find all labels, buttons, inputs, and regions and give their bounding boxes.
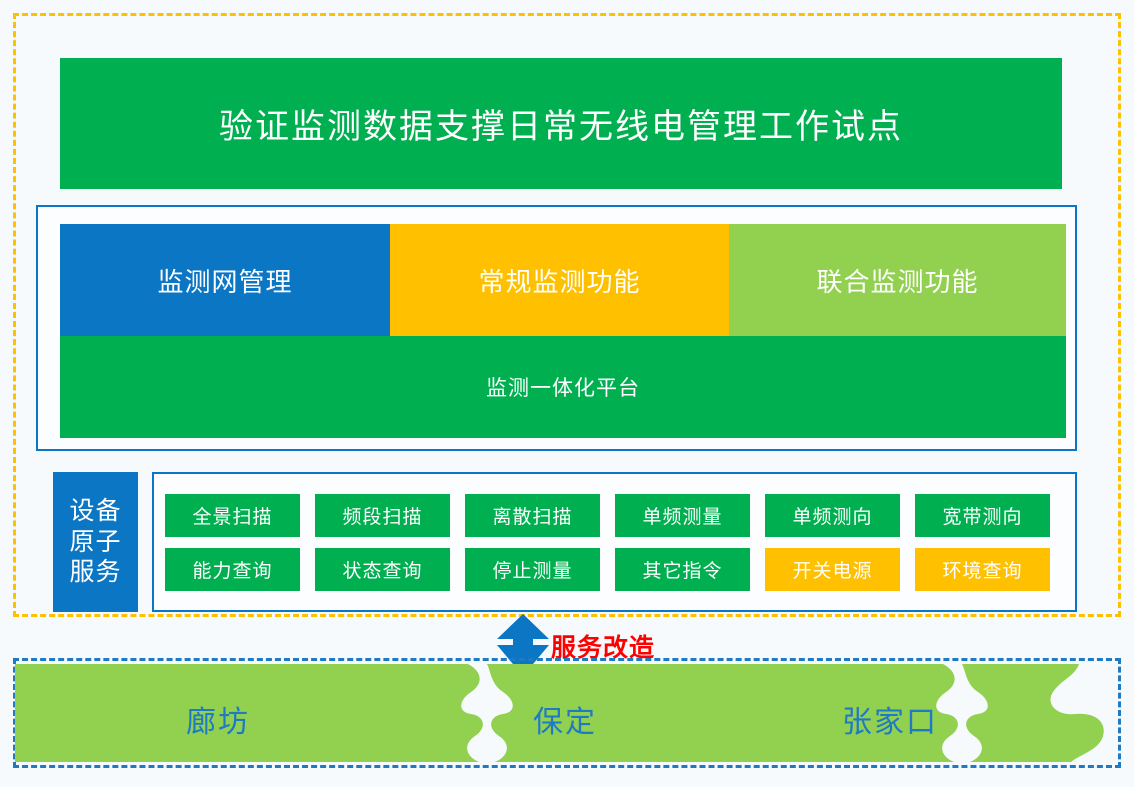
- function-cell-label: 联合监测功能: [816, 262, 978, 299]
- function-cell-joint-monitoring[interactable]: 联合监测功能: [729, 224, 1066, 336]
- service-button-label: 频段扫描: [342, 502, 422, 529]
- service-button-label: 状态查询: [342, 556, 422, 583]
- region-label-baoding[interactable]: 保定: [533, 697, 597, 741]
- service-button-label: 环境查询: [942, 556, 1022, 583]
- service-button-panorama-scan[interactable]: 全景扫描: [165, 494, 300, 537]
- region-label-zhangjiakou[interactable]: 张家口: [842, 697, 938, 741]
- atomic-service-row: 全景扫描 频段扫描 离散扫描 单频测量 单频测向 宽带测向: [165, 494, 1065, 537]
- service-button-discrete-scan[interactable]: 离散扫描: [465, 494, 600, 537]
- service-button-single-frequency-df[interactable]: 单频测向: [765, 494, 900, 537]
- service-button-label: 单频测向: [792, 502, 872, 529]
- service-button-label: 能力查询: [192, 556, 272, 583]
- integrated-platform-bar[interactable]: 监测一体化平台: [60, 336, 1066, 438]
- integrated-platform-label: 监测一体化平台: [486, 372, 640, 402]
- atomic-service-label-line-2: 原子: [69, 527, 121, 558]
- page-title: 验证监测数据支撑日常无线电管理工作试点: [219, 99, 903, 148]
- service-button-stop-measure[interactable]: 停止测量: [465, 548, 600, 591]
- diagram-canvas: 验证监测数据支撑日常无线电管理工作试点 监测网管理 常规监测功能 联合监测功能 …: [0, 0, 1134, 787]
- atomic-service-row: 能力查询 状态查询 停止测量 其它指令 开关电源 环境查询: [165, 548, 1065, 591]
- service-button-label: 开关电源: [792, 556, 872, 583]
- service-button-wideband-df[interactable]: 宽带测向: [915, 494, 1050, 537]
- atomic-service-panel: 全景扫描 频段扫描 离散扫描 单频测量 单频测向 宽带测向 能力查询 状态查询 …: [152, 472, 1077, 612]
- service-button-label: 其它指令: [642, 556, 722, 583]
- service-button-power-switch[interactable]: 开关电源: [765, 548, 900, 591]
- service-button-label: 离散扫描: [492, 502, 572, 529]
- function-row: 监测网管理 常规监测功能 联合监测功能: [60, 224, 1066, 336]
- service-button-label: 单频测量: [642, 502, 722, 529]
- service-button-capability-query[interactable]: 能力查询: [165, 548, 300, 591]
- platform-group: 监测网管理 常规监测功能 联合监测功能 监测一体化平台: [36, 205, 1077, 451]
- title-banner: 验证监测数据支撑日常无线电管理工作试点: [60, 58, 1062, 189]
- service-button-status-query[interactable]: 状态查询: [315, 548, 450, 591]
- atomic-service-label: 设备 原子 服务: [53, 472, 138, 612]
- function-cell-label: 监测网管理: [157, 262, 292, 299]
- atomic-service-label-line-3: 服务: [69, 557, 121, 588]
- service-button-label: 宽带测向: [942, 502, 1022, 529]
- function-cell-label: 常规监测功能: [478, 262, 640, 299]
- atomic-service-label-line-1: 设备: [69, 496, 121, 527]
- service-button-other-commands[interactable]: 其它指令: [615, 548, 750, 591]
- region-label-langfang[interactable]: 廊坊: [186, 697, 250, 741]
- puzzle-piece-3-shape: [962, 664, 1104, 762]
- atomic-service-grid: 全景扫描 频段扫描 离散扫描 单频测量 单频测向 宽带测向 能力查询 状态查询 …: [165, 494, 1065, 591]
- service-button-band-scan[interactable]: 频段扫描: [315, 494, 450, 537]
- function-cell-monitoring-network-management[interactable]: 监测网管理: [60, 224, 390, 336]
- service-button-label: 全景扫描: [192, 502, 272, 529]
- service-button-environment-query[interactable]: 环境查询: [915, 548, 1050, 591]
- service-button-single-frequency-measure[interactable]: 单频测量: [615, 494, 750, 537]
- service-button-label: 停止测量: [492, 556, 572, 583]
- function-cell-routine-monitoring[interactable]: 常规监测功能: [390, 224, 729, 336]
